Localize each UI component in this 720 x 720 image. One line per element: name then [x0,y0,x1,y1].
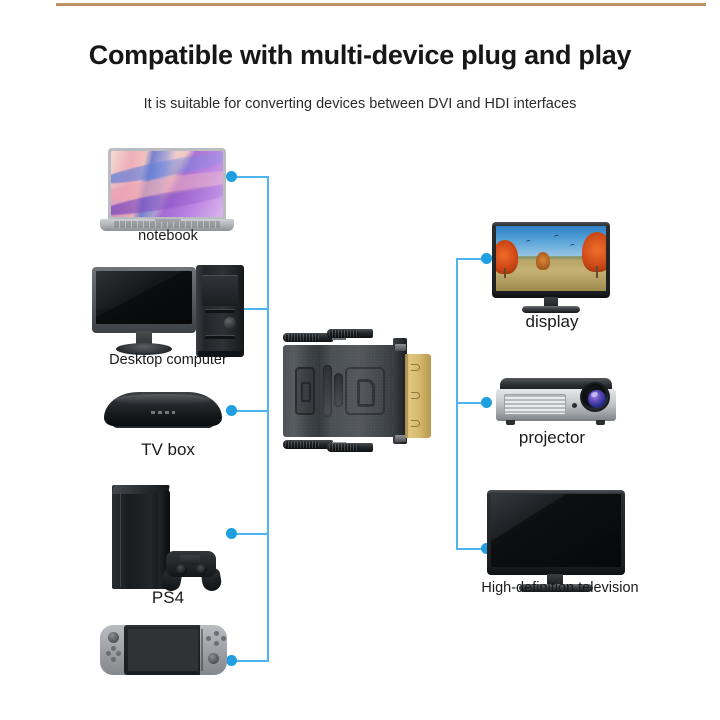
adapter-screw-top-inner [327,326,393,341]
pc-tower [196,265,244,357]
laptop-lid [108,148,226,220]
branch-line-notebook [233,176,269,178]
adapter-port-hdmi [295,367,315,415]
monitor-screen [96,271,192,324]
connector-dot-display [481,253,492,264]
branch-line-switch [233,660,269,662]
connector-dot-tvbox [226,405,237,416]
caption-desktop-computer: Desktop computer [56,352,280,368]
top-divider-rule [56,3,706,6]
caption-projector: projector [442,428,662,448]
caption-high-definition-television: High-definition television [447,580,673,596]
laptop-screen [111,151,223,217]
adapter-screw-bottom-inner [327,440,393,455]
device-projector [496,378,622,428]
switch-joycon-left [100,625,127,675]
hdtv-screen [491,494,621,567]
tvbox-body [104,392,222,426]
device-ps4 [112,485,242,595]
page-subtitle: It is suitable for converting devices be… [0,96,720,112]
projector-lens [580,382,610,412]
adapter-dvi-gold-pins [405,354,431,438]
projector-sensor [572,403,577,408]
display-frame [492,222,610,298]
display-picture [496,226,606,291]
page-title: Compatible with multi-device plug and pl… [0,40,720,71]
switch-screen [124,625,202,675]
caption-ps4: PS4 [56,588,280,608]
branch-line-tvbox [233,410,269,412]
caption-notebook: notebook [56,228,280,244]
caption-display: display [442,312,662,332]
adapter-housing [283,345,405,437]
device-tv-box [104,392,224,432]
laptop-keyboard [114,221,220,228]
device-nintendo-switch [96,625,232,677]
device-desktop-computer [92,265,252,360]
product-infographic: Compatible with multi-device plug and pl… [0,0,720,720]
hdtv-frame [487,490,625,575]
caption-tv-box: TV box [56,440,280,460]
projector-vent-grille [504,394,566,415]
ps4-controller [154,547,228,591]
right-trunk-line [456,258,458,550]
tvbox-indicator-lights [151,411,175,414]
pc-power-button[interactable] [224,317,236,329]
dvi-to-hdmi-adapter [283,330,453,470]
device-notebook [100,148,236,234]
monitor-body [92,267,196,333]
device-display [492,222,612,314]
laptop-trackpad-notch [155,219,181,222]
connector-dot-projector [481,397,492,408]
switch-joycon-right [200,625,227,675]
adapter-emboss-logo [345,367,385,415]
